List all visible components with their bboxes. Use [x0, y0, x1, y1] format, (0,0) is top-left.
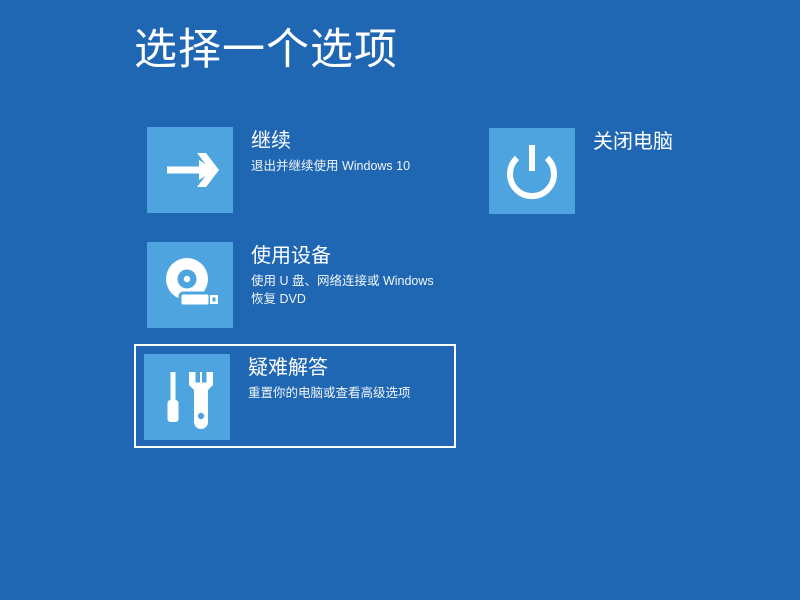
option-shutdown-title: 关闭电脑 — [593, 130, 673, 155]
option-shutdown[interactable]: 关闭电脑 — [479, 118, 779, 224]
option-troubleshoot-tile — [144, 354, 230, 440]
option-continue-text: 继续 退出并继续使用 Windows 10 — [251, 127, 410, 175]
option-troubleshoot-text: 疑难解答 重置你的电脑或查看高级选项 — [248, 354, 411, 402]
recovery-options-screen: 选择一个选项 继续 退出并继续使用 Windows 10 使 — [0, 0, 800, 600]
option-continue[interactable]: 继续 退出并继续使用 Windows 10 — [137, 117, 459, 223]
arrow-right-icon — [147, 127, 233, 213]
power-icon — [489, 128, 575, 214]
option-shutdown-tile — [489, 128, 575, 214]
option-troubleshoot-description: 重置你的电脑或查看高级选项 — [248, 384, 411, 402]
page-title: 选择一个选项 — [134, 26, 398, 75]
screwdriver-wrench-icon — [144, 354, 230, 440]
option-use-device-tile — [147, 242, 233, 328]
disc-usb-device-icon — [147, 242, 233, 328]
option-shutdown-text: 关闭电脑 — [593, 128, 673, 155]
option-use-device[interactable]: 使用设备 使用 U 盘、网络连接或 Windows 恢复 DVD — [137, 232, 459, 338]
option-troubleshoot[interactable]: 疑难解答 重置你的电脑或查看高级选项 — [134, 344, 456, 448]
option-use-device-description: 使用 U 盘、网络连接或 Windows 恢复 DVD — [251, 272, 449, 308]
option-continue-title: 继续 — [251, 129, 410, 154]
option-troubleshoot-title: 疑难解答 — [248, 356, 411, 381]
option-use-device-title: 使用设备 — [251, 244, 449, 269]
option-use-device-text: 使用设备 使用 U 盘、网络连接或 Windows 恢复 DVD — [251, 242, 449, 308]
option-continue-tile — [147, 127, 233, 213]
option-continue-description: 退出并继续使用 Windows 10 — [251, 157, 410, 175]
